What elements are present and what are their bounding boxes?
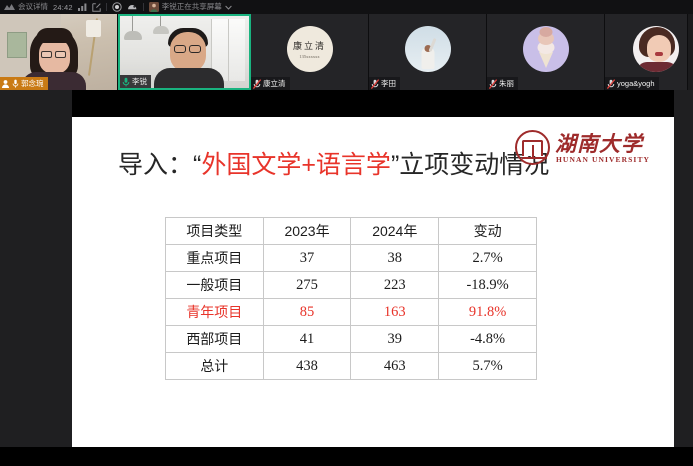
participant-name-badge: 朱丽 <box>487 77 518 90</box>
slide-title-highlight: 外国文学+语言学 <box>201 151 391 179</box>
university-name-en: HUNAN UNIVERSITY <box>556 155 650 164</box>
participant-name-badge: 郭念琬 <box>0 77 48 90</box>
shared-slide: 导入：“外国文学+语言学”立项变动情况 湖南大学 HUNAN UNIVERSIT… <box>72 117 674 447</box>
university-logo: 湖南大学 HUNAN UNIVERSITY <box>515 128 651 170</box>
participant-name: 李锐 <box>132 76 147 87</box>
screen-sharing-status[interactable]: 李锐正在共享屏幕 <box>149 0 232 14</box>
cell-type: 西部项目 <box>166 326 264 353</box>
microphone-muted-icon <box>253 79 261 89</box>
cell-2023: 37 <box>263 245 351 272</box>
microphone-icon <box>122 77 130 87</box>
user-avatar-icon <box>149 2 159 12</box>
participant-tile-zhu-li[interactable]: 朱丽 <box>487 14 605 90</box>
cell-type: 一般项目 <box>166 272 264 299</box>
microphone-muted-icon <box>607 79 615 89</box>
table-row: 一般项目 275 223 -18.9% <box>166 272 537 299</box>
cell-2024: 38 <box>351 245 439 272</box>
window-bottom-bar <box>0 447 693 466</box>
participant-name-badge: yoga&yogh <box>605 77 659 90</box>
project-statistics-table: 项目类型 2023年 2024年 变动 重点项目 37 38 2.7% 一般项目… <box>165 217 537 380</box>
meeting-top-bar: 会议详情 24:42 <box>0 0 693 14</box>
participant-tile-yoga[interactable]: yoga&yogh <box>605 14 688 90</box>
cell-2023: 275 <box>263 272 351 299</box>
expand-icon[interactable] <box>92 3 101 12</box>
host-person-icon <box>1 79 10 88</box>
cell-type: 青年项目 <box>166 299 264 326</box>
table-row-highlighted: 青年项目 85 163 91.8% <box>166 299 537 326</box>
participant-tile-li-rui[interactable]: 李锐 <box>118 14 251 90</box>
participant-name: 朱丽 <box>499 78 514 89</box>
participant-filmstrip: 郭念琬 <box>0 14 693 90</box>
cell-change: 5.7% <box>439 353 537 380</box>
participant-name-badge: 李锐 <box>120 75 151 88</box>
avatar <box>405 26 451 72</box>
participant-name: yoga&yogh <box>617 79 655 88</box>
cell-change: -4.8% <box>439 326 537 353</box>
avatar-calligraphy-text: 康立清 <box>293 39 326 52</box>
cell-change: 91.8% <box>439 299 537 326</box>
signal-bars-icon[interactable] <box>78 3 87 11</box>
toolbar-divider-2 <box>143 3 144 11</box>
column-header-type: 项目类型 <box>166 218 264 245</box>
participant-name: 李田 <box>381 78 396 89</box>
table-row-total: 总计 438 463 5.7% <box>166 353 537 380</box>
participant-tile-li-tian[interactable]: 李田 <box>369 14 487 90</box>
microphone-muted-icon <box>371 79 379 89</box>
cell-type: 总计 <box>166 353 264 380</box>
cell-2024: 223 <box>351 272 439 299</box>
meeting-details-label: 会议详情 <box>18 0 48 14</box>
meeting-timer: 24:42 <box>53 3 73 12</box>
slide-title: 导入：“外国文学+语言学”立项变动情况 <box>118 145 549 181</box>
camera-icon[interactable] <box>127 3 138 12</box>
column-header-change: 变动 <box>439 218 537 245</box>
cell-2023: 85 <box>263 299 351 326</box>
cell-type: 重点项目 <box>166 245 264 272</box>
share-letterbox-top <box>0 90 693 117</box>
participant-name: 郭念琬 <box>21 78 44 89</box>
university-name-cn: 湖南大学 <box>555 128 643 158</box>
cell-2024: 463 <box>351 353 439 380</box>
share-letterbox-left <box>0 90 72 447</box>
participant-name-badge: 李田 <box>369 77 400 90</box>
column-header-2024: 2024年 <box>351 218 439 245</box>
column-header-2023: 2023年 <box>263 218 351 245</box>
cell-change: -18.9% <box>439 272 537 299</box>
share-letterbox-right <box>674 90 693 447</box>
university-seal-icon <box>515 130 550 165</box>
table-row: 西部项目 41 39 -4.8% <box>166 326 537 353</box>
cell-2024: 163 <box>351 299 439 326</box>
table-row: 重点项目 37 38 2.7% <box>166 245 537 272</box>
participant-tile-kang[interactable]: 康立清 135xxxxxx 康立清 <box>251 14 369 90</box>
participant-name: 康立清 <box>263 78 286 89</box>
avatar: 康立清 135xxxxxx <box>287 26 333 72</box>
avatar-calligraphy-subtext: 135xxxxxx <box>299 54 319 59</box>
toolbar-divider <box>106 3 107 11</box>
mountain-chevron-icon <box>4 3 15 11</box>
participant-tile-guo[interactable]: 郭念琬 <box>0 14 118 90</box>
microphone-icon <box>12 79 19 88</box>
table-header-row: 项目类型 2023年 2024年 变动 <box>166 218 537 245</box>
meeting-screen-share-window: 会议详情 24:42 <box>0 0 693 466</box>
microphone-muted-icon <box>489 79 497 89</box>
avatar <box>523 26 569 72</box>
chevron-down-icon[interactable] <box>225 5 232 10</box>
cell-2024: 39 <box>351 326 439 353</box>
meeting-details-button[interactable]: 会议详情 <box>4 0 48 14</box>
cell-2023: 41 <box>263 326 351 353</box>
participant-name-badge: 康立清 <box>251 77 290 90</box>
slide-title-prefix: 导入：“ <box>118 151 201 179</box>
cell-change: 2.7% <box>439 245 537 272</box>
record-circle-icon[interactable] <box>112 2 122 12</box>
screen-sharing-label: 李锐正在共享屏幕 <box>162 0 222 14</box>
cell-2023: 438 <box>263 353 351 380</box>
avatar <box>633 26 679 72</box>
